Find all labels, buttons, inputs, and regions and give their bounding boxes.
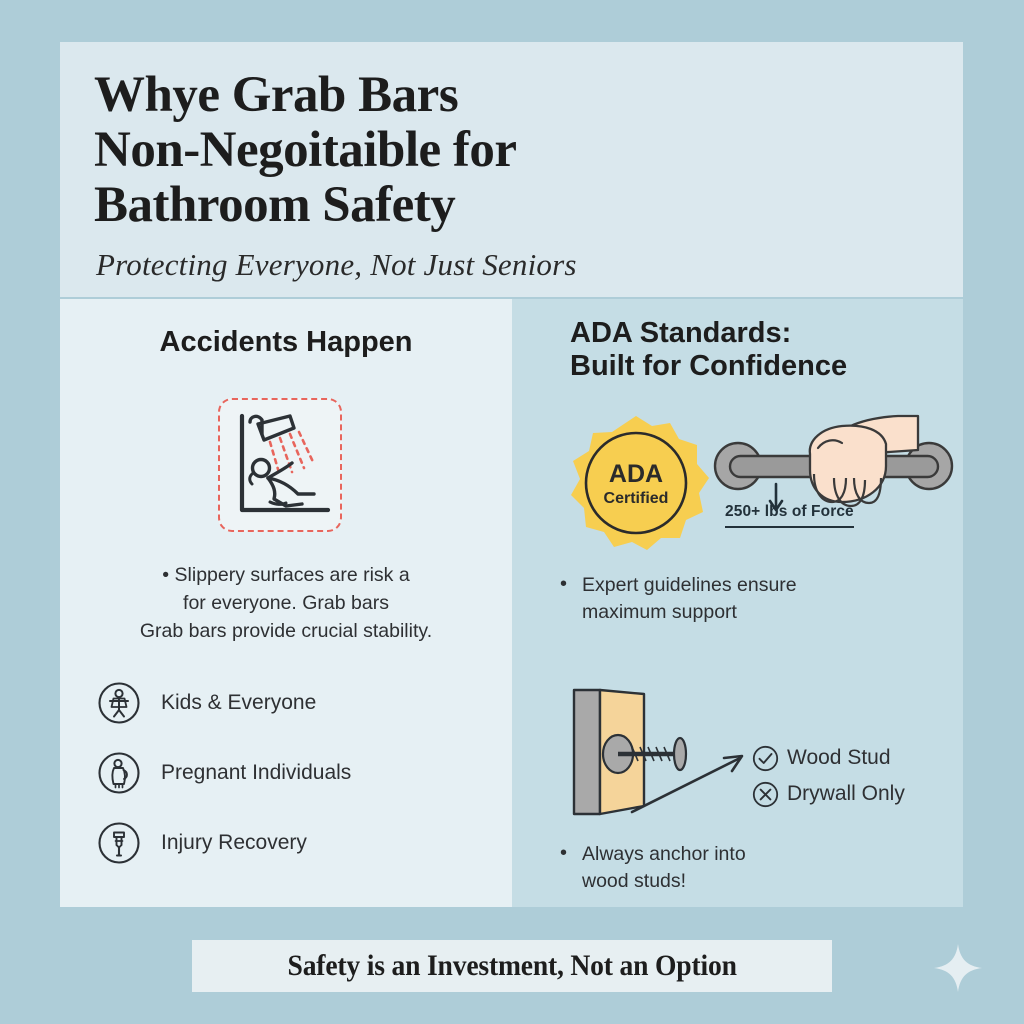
left-audience-list: Kids & Everyone Pregnant Individuals <box>97 668 457 878</box>
right-bullet-anchor-warning: Always anchor into wood studs! <box>560 841 902 895</box>
left-column-heading: Accidents Happen <box>60 326 512 359</box>
list-item-label: Injury Recovery <box>161 831 307 855</box>
left-heading-wrap: Accidents Happen <box>60 326 512 359</box>
list-item: Wood Stud <box>752 740 962 776</box>
pregnant-person-icon <box>97 751 141 795</box>
right-heading-wrap: ADA Standards: Built for Confidence <box>570 317 950 384</box>
page-title: Whye Grab Bars Non-Negoitaible for Bathr… <box>94 68 963 233</box>
ada-certified-badge-icon <box>560 412 712 557</box>
list-item-label: Drywall Only <box>787 782 905 806</box>
crutch-icon <box>97 821 141 865</box>
wall-stud-anchor-diagram <box>570 686 770 826</box>
x-circle-icon <box>752 781 779 808</box>
anchor-choices-list: Wood Stud Drywall Only <box>752 740 962 812</box>
list-item-label: Wood Stud <box>787 746 891 770</box>
footer-text: Safety is an Investment, Not an Option <box>287 949 736 983</box>
footer-banner: Safety is an Investment, Not an Option <box>192 940 832 992</box>
infographic-canvas: Whye Grab Bars Non-Negoitaible for Bathr… <box>0 0 1024 1024</box>
list-item: Pregnant Individuals <box>97 738 457 808</box>
person-icon <box>97 681 141 725</box>
left-column-paragraph: • Slippery surfaces are risk a for every… <box>60 561 512 645</box>
page-subtitle: Protecting Everyone, Not Just Seniors <box>96 247 963 283</box>
force-label: 250+ lbs of Force <box>725 503 854 528</box>
shower-slip-icon <box>218 398 342 532</box>
list-item: Drywall Only <box>752 776 962 812</box>
right-column-heading: ADA Standards: Built for Confidence <box>570 317 950 384</box>
right-bullet-expert-guidelines: Expert guidelines ensure maximum support <box>560 572 902 626</box>
list-item-label: Pregnant Individuals <box>161 761 351 785</box>
list-item: Injury Recovery <box>97 808 457 878</box>
check-circle-icon <box>752 745 779 772</box>
header-card: Whye Grab Bars Non-Negoitaible for Bathr… <box>60 42 963 297</box>
list-item: Kids & Everyone <box>97 668 457 738</box>
list-item-label: Kids & Everyone <box>161 691 316 715</box>
sparkle-icon <box>931 941 985 995</box>
